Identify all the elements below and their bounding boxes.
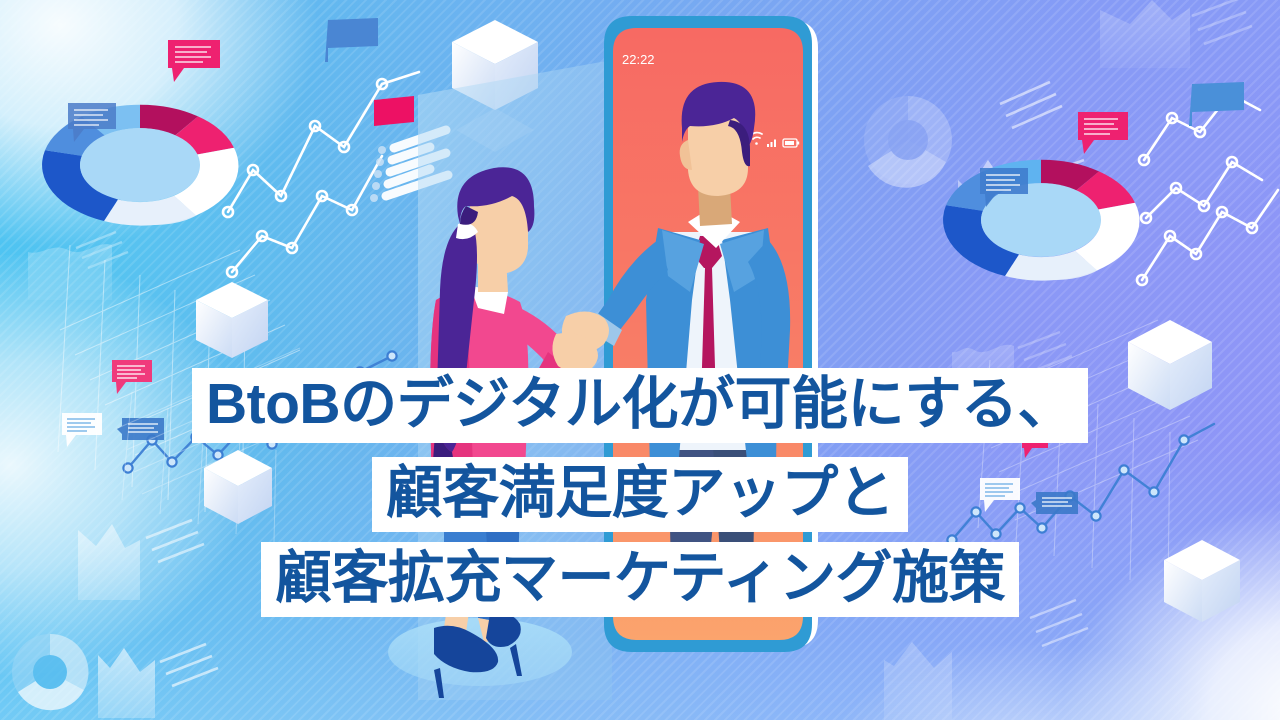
phone-status-time: 22:22: [622, 52, 655, 67]
title-line-2: 顧客満足度アップと: [372, 457, 909, 532]
title-block: BtoBのデジタル化が可能にする、 顧客満足度アップと 顧客拡充マーケティング施…: [0, 368, 1280, 617]
title-line-3: 顧客拡充マーケティング施策: [261, 542, 1019, 617]
promo-banner: 22:22: [0, 0, 1280, 720]
title-line-1: BtoBのデジタル化が可能にする、: [192, 368, 1088, 443]
